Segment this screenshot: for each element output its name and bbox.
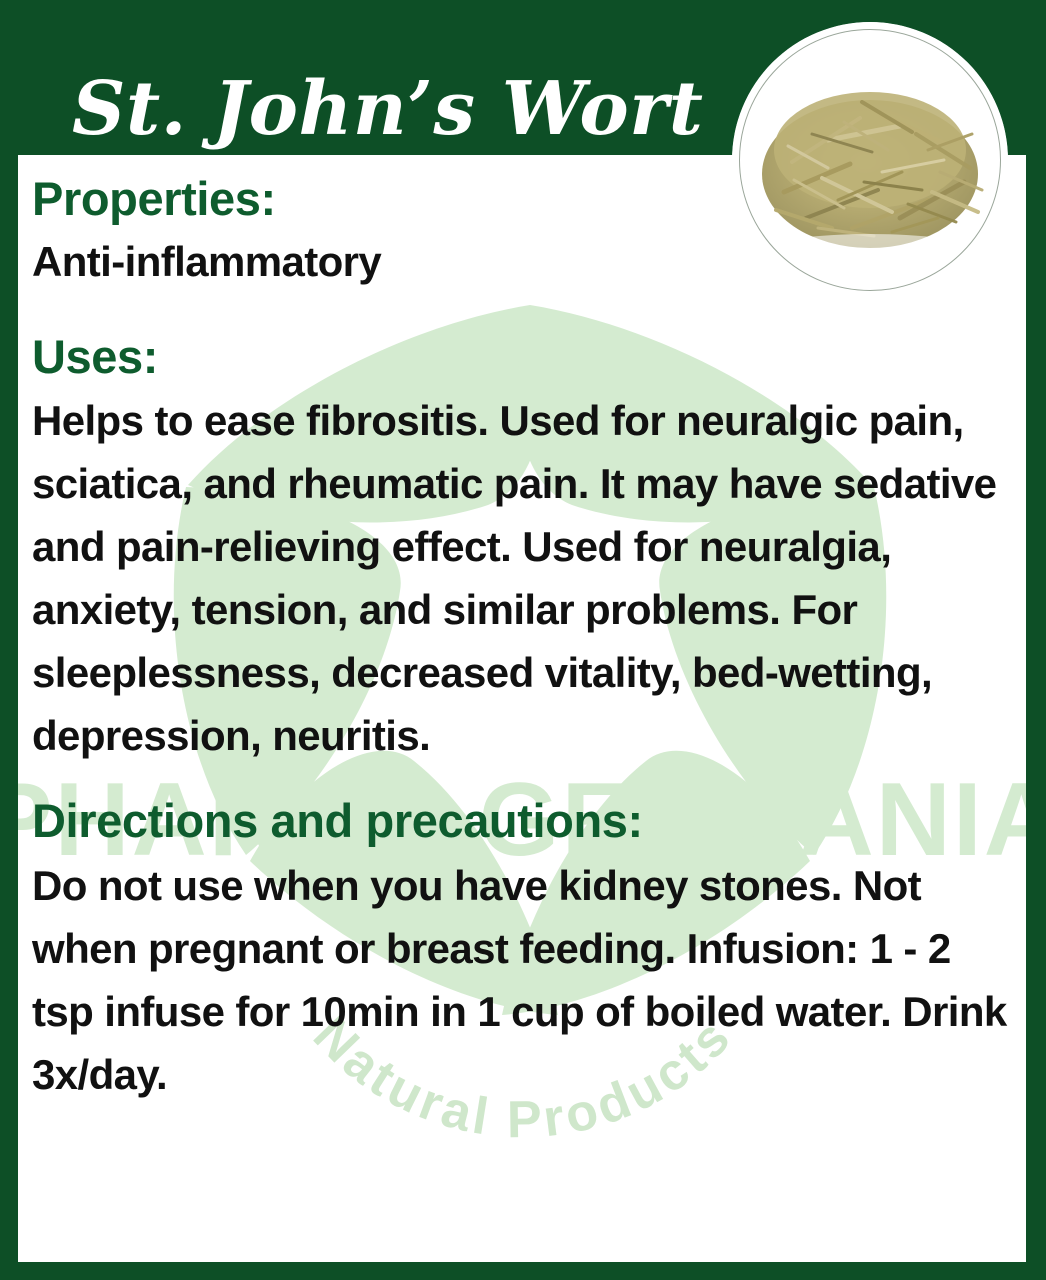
page-title: St. John’s Wort bbox=[72, 72, 703, 146]
content-card: PHARMA GERMANIA Natural Products Propert… bbox=[18, 155, 1026, 1262]
herb-photo bbox=[732, 22, 1008, 298]
section-directions: Directions and precautions: Do not use w… bbox=[32, 767, 1022, 1106]
herb-photo-circle bbox=[732, 22, 1008, 298]
section-uses: Uses: Helps to ease fibrositis. Used for… bbox=[32, 293, 1022, 768]
section-body-uses: Helps to ease fibrositis. Used for neura… bbox=[32, 389, 1022, 767]
product-info-card: St. John’s Wort PHARMA GERMANIA Natural … bbox=[0, 0, 1046, 1280]
section-heading-directions: Directions and precautions: bbox=[32, 795, 1022, 848]
section-heading-uses: Uses: bbox=[32, 331, 1022, 384]
section-body-directions: Do not use when you have kidney stones. … bbox=[32, 854, 1022, 1106]
